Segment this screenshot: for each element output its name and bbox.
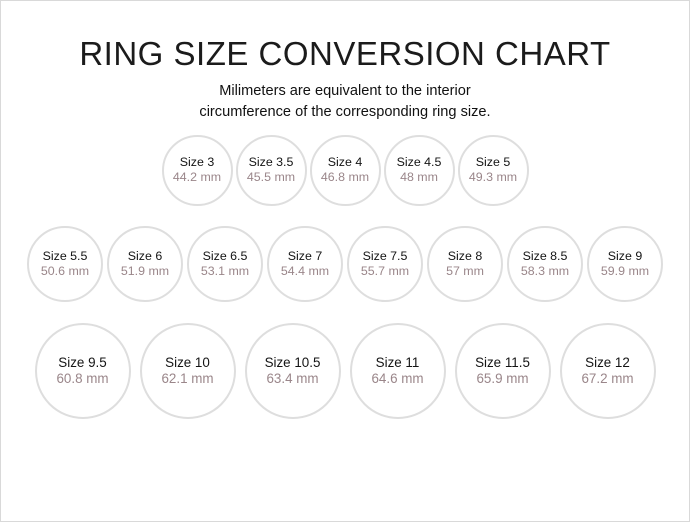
ring-row-2: Size 5.550.6 mmSize 651.9 mmSize 6.553.1… xyxy=(1,226,689,302)
ring-size-circle[interactable]: Size 1267.2 mm xyxy=(560,323,656,419)
ring-millimeter-label: 45.5 mm xyxy=(247,170,295,185)
ring-millimeter-label: 58.3 mm xyxy=(521,264,569,279)
ring-millimeter-label: 51.9 mm xyxy=(121,264,169,279)
ring-size-circle[interactable]: Size 446.8 mm xyxy=(310,135,381,206)
ring-size-label: Size 4.5 xyxy=(397,155,442,170)
ring-millimeter-label: 44.2 mm xyxy=(173,170,221,185)
ring-size-label: Size 10.5 xyxy=(265,355,321,371)
ring-size-label: Size 10 xyxy=(165,355,210,371)
chart-subtitle: Milimeters are equivalent to the interio… xyxy=(180,81,510,123)
ring-millimeter-label: 60.8 mm xyxy=(56,371,108,387)
ring-size-circle[interactable]: Size 1062.1 mm xyxy=(140,323,236,419)
ring-size-circle[interactable]: Size 959.9 mm xyxy=(587,226,663,302)
ring-millimeter-label: 64.6 mm xyxy=(371,371,423,387)
ring-size-circle[interactable]: Size 5.550.6 mm xyxy=(27,226,103,302)
ring-millimeter-label: 55.7 mm xyxy=(361,264,409,279)
chart-subtitle-line-1: Milimeters are equivalent to the interio… xyxy=(180,81,510,102)
ring-size-label: Size 3.5 xyxy=(249,155,294,170)
ring-size-label: Size 11 xyxy=(376,355,420,371)
ring-size-label: Size 11.5 xyxy=(475,355,530,371)
ring-size-label: Size 6 xyxy=(128,249,162,264)
ring-millimeter-label: 59.9 mm xyxy=(601,264,649,279)
ring-size-circle[interactable]: Size 4.548 mm xyxy=(384,135,455,206)
ring-size-label: Size 9 xyxy=(608,249,642,264)
ring-millimeter-label: 50.6 mm xyxy=(41,264,89,279)
ring-size-circle[interactable]: Size 1164.6 mm xyxy=(350,323,446,419)
ring-size-circle[interactable]: Size 11.565.9 mm xyxy=(455,323,551,419)
ring-size-label: Size 4 xyxy=(328,155,362,170)
chart-subtitle-line-2: circumference of the corresponding ring … xyxy=(180,102,510,123)
ring-size-label: Size 3 xyxy=(180,155,214,170)
ring-size-label: Size 8.5 xyxy=(523,249,568,264)
ring-size-label: Size 7 xyxy=(288,249,322,264)
ring-size-label: Size 8 xyxy=(448,249,482,264)
ring-millimeter-label: 46.8 mm xyxy=(321,170,369,185)
ring-size-label: Size 7.5 xyxy=(363,249,408,264)
ring-size-label: Size 5 xyxy=(476,155,510,170)
ring-size-circle[interactable]: Size 8.558.3 mm xyxy=(507,226,583,302)
chart-header: RING SIZE CONVERSION CHART Milimeters ar… xyxy=(1,1,689,123)
ring-size-label: Size 6.5 xyxy=(203,249,248,264)
ring-size-circle[interactable]: Size 344.2 mm xyxy=(162,135,233,206)
ring-size-label: Size 9.5 xyxy=(58,355,106,371)
ring-size-circle[interactable]: Size 6.553.1 mm xyxy=(187,226,263,302)
ring-millimeter-label: 53.1 mm xyxy=(201,264,249,279)
ring-millimeter-label: 54.4 mm xyxy=(281,264,329,279)
ring-millimeter-label: 49.3 mm xyxy=(469,170,517,185)
page-title: RING SIZE CONVERSION CHART xyxy=(1,37,689,72)
ring-size-circle[interactable]: Size 10.563.4 mm xyxy=(245,323,341,419)
ring-millimeter-label: 62.1 mm xyxy=(161,371,213,387)
ring-millimeter-label: 48 mm xyxy=(400,170,438,185)
ring-size-circle[interactable]: Size 9.560.8 mm xyxy=(35,323,131,419)
ring-size-circle[interactable]: Size 857 mm xyxy=(427,226,503,302)
ring-size-circle[interactable]: Size 754.4 mm xyxy=(267,226,343,302)
ring-size-circle[interactable]: Size 3.545.5 mm xyxy=(236,135,307,206)
ring-size-circle[interactable]: Size 7.555.7 mm xyxy=(347,226,423,302)
ring-millimeter-label: 57 mm xyxy=(446,264,484,279)
ring-row-1: Size 344.2 mmSize 3.545.5 mmSize 446.8 m… xyxy=(1,135,689,206)
ring-size-circle[interactable]: Size 549.3 mm xyxy=(458,135,529,206)
ring-size-circle[interactable]: Size 651.9 mm xyxy=(107,226,183,302)
ring-size-label: Size 5.5 xyxy=(43,249,88,264)
ring-millimeter-label: 67.2 mm xyxy=(581,371,633,387)
ring-size-chart-page: RING SIZE CONVERSION CHART Milimeters ar… xyxy=(0,0,690,522)
ring-millimeter-label: 65.9 mm xyxy=(476,371,528,387)
ring-size-label: Size 12 xyxy=(585,355,630,371)
ring-millimeter-label: 63.4 mm xyxy=(266,371,318,387)
ring-row-3: Size 9.560.8 mmSize 1062.1 mmSize 10.563… xyxy=(1,323,689,419)
